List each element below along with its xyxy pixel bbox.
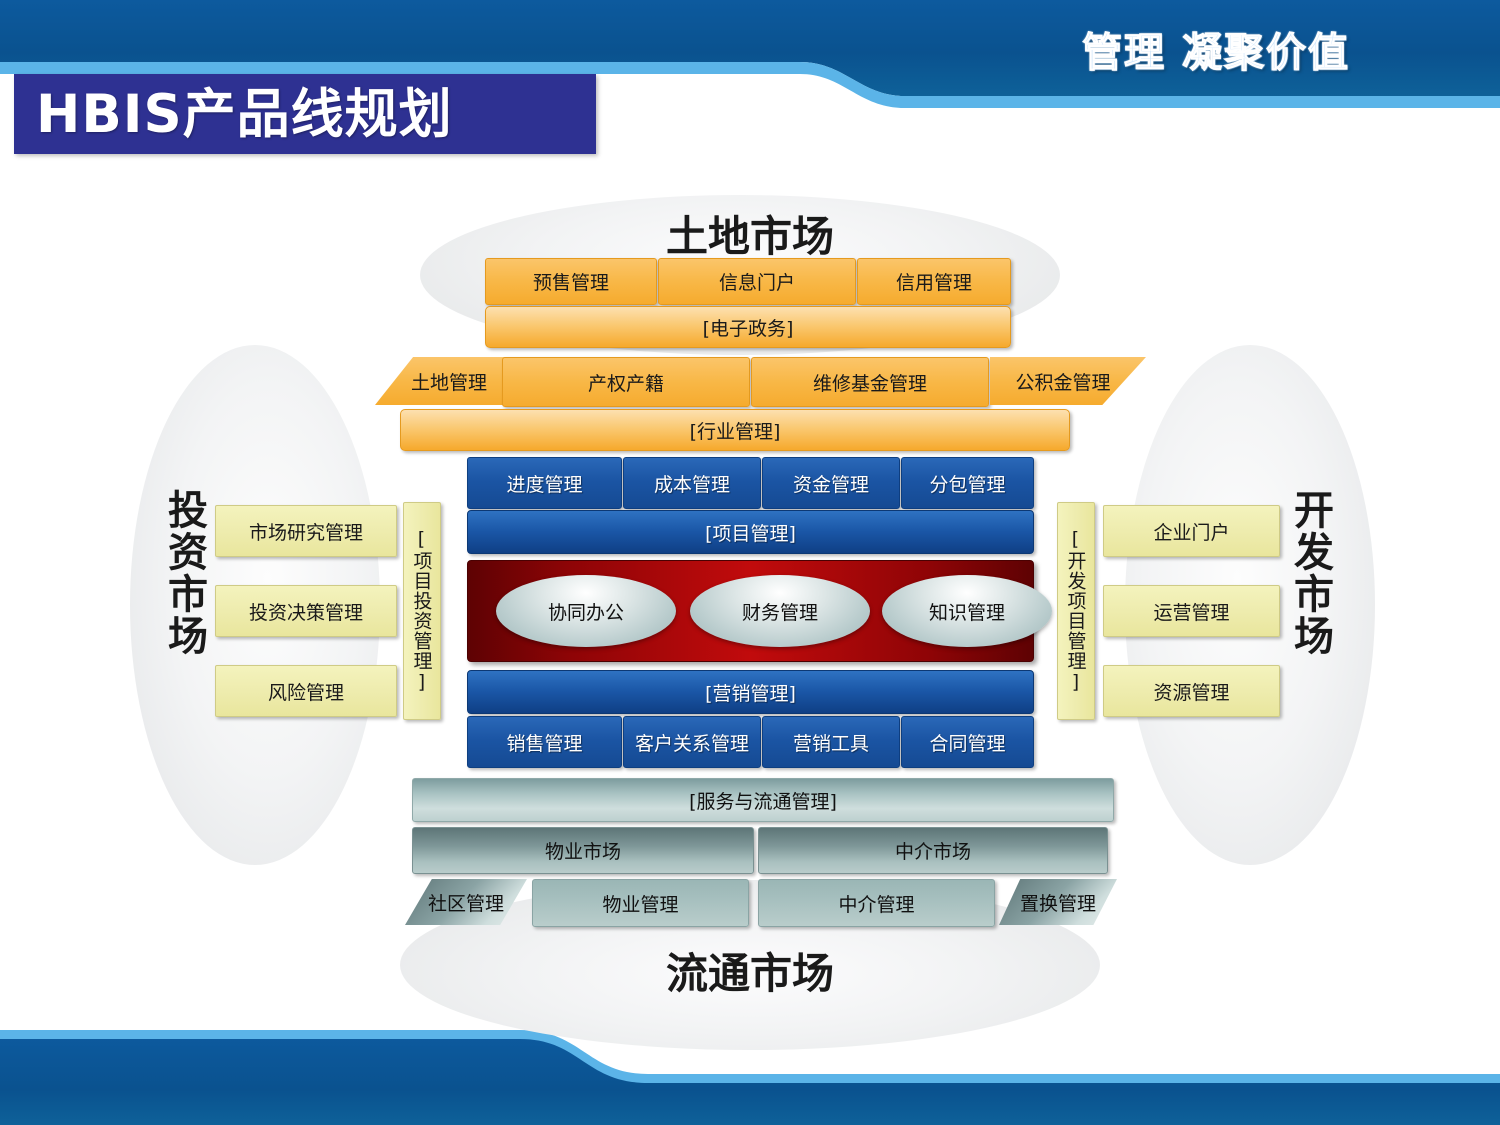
module-enterprise-portal[interactable]: 企业门户: [1103, 505, 1280, 557]
module-property-management[interactable]: 物业管理: [532, 879, 749, 927]
market-label-left: 投资市场: [162, 490, 214, 658]
band-marketing-management[interactable]: [营销管理]: [467, 670, 1034, 714]
market-label-bottom: 流通市场: [0, 940, 1500, 1001]
module-property-rights-registry[interactable]: 产权产籍: [502, 357, 750, 407]
band-service-and-circulation-management[interactable]: [服务与流通管理]: [412, 778, 1114, 822]
module-subcontract-management[interactable]: 分包管理: [901, 457, 1034, 509]
module-financial-management[interactable]: 财务管理: [690, 575, 870, 647]
band-development-project-management[interactable]: [开发项目管理]: [1057, 502, 1095, 720]
band-industry-management[interactable]: [行业管理]: [400, 409, 1070, 451]
page-title-text: HBIS产品线规划: [14, 88, 453, 141]
module-credit-management[interactable]: 信用管理: [857, 258, 1011, 305]
module-exchange-management[interactable]: 置换管理: [999, 879, 1117, 925]
module-operations-management[interactable]: 运营管理: [1103, 585, 1280, 637]
module-knowledge-management[interactable]: 知识管理: [882, 575, 1052, 647]
module-housing-fund-management[interactable]: 公积金管理: [990, 357, 1146, 405]
band-e-government[interactable]: [电子政务]: [485, 306, 1011, 348]
market-label-top: 土地市场: [0, 203, 1500, 264]
band-project-management[interactable]: [项目管理]: [467, 510, 1034, 554]
market-label-right: 开发市场: [1288, 490, 1340, 658]
module-maintenance-fund-management[interactable]: 维修基金管理: [751, 357, 989, 407]
band-project-investment-management[interactable]: [项目投资管理]: [403, 502, 441, 720]
core-platform-band: 协同办公 财务管理 知识管理: [467, 560, 1034, 662]
module-risk-management[interactable]: 风险管理: [215, 665, 397, 717]
module-contract-management[interactable]: 合同管理: [901, 716, 1034, 768]
brand-tagline: 管理 凝聚价值: [1082, 20, 1350, 78]
module-market-research-management[interactable]: 市场研究管理: [215, 505, 397, 557]
module-marketing-tools[interactable]: 营销工具: [762, 716, 900, 768]
module-information-portal[interactable]: 信息门户: [658, 258, 856, 305]
module-investment-decision-management[interactable]: 投资决策管理: [215, 585, 397, 637]
module-presale-management[interactable]: 预售管理: [485, 258, 657, 305]
module-resource-management[interactable]: 资源管理: [1103, 665, 1280, 717]
module-agency-management[interactable]: 中介管理: [758, 879, 995, 927]
submarket-agency-market[interactable]: 中介市场: [758, 827, 1108, 874]
module-schedule-management[interactable]: 进度管理: [467, 457, 622, 509]
module-funds-management[interactable]: 资金管理: [762, 457, 900, 509]
module-crm[interactable]: 客户关系管理: [623, 716, 761, 768]
module-collaborative-office[interactable]: 协同办公: [496, 575, 676, 647]
submarket-property-market[interactable]: 物业市场: [412, 827, 754, 874]
slide-root: 管理 凝聚价值 HBIS产品线规划 土地市场 流通市场 投资市场 开发市场: [0, 0, 1500, 1125]
page-title: HBIS产品线规划: [14, 74, 596, 154]
module-sales-management[interactable]: 销售管理: [467, 716, 622, 768]
product-line-diagram: 土地市场 流通市场 投资市场 开发市场 预售管理 信息门户 信用管理 [电子政务…: [0, 165, 1500, 1025]
module-cost-management[interactable]: 成本管理: [623, 457, 761, 509]
module-land-management[interactable]: 土地管理: [375, 357, 511, 405]
